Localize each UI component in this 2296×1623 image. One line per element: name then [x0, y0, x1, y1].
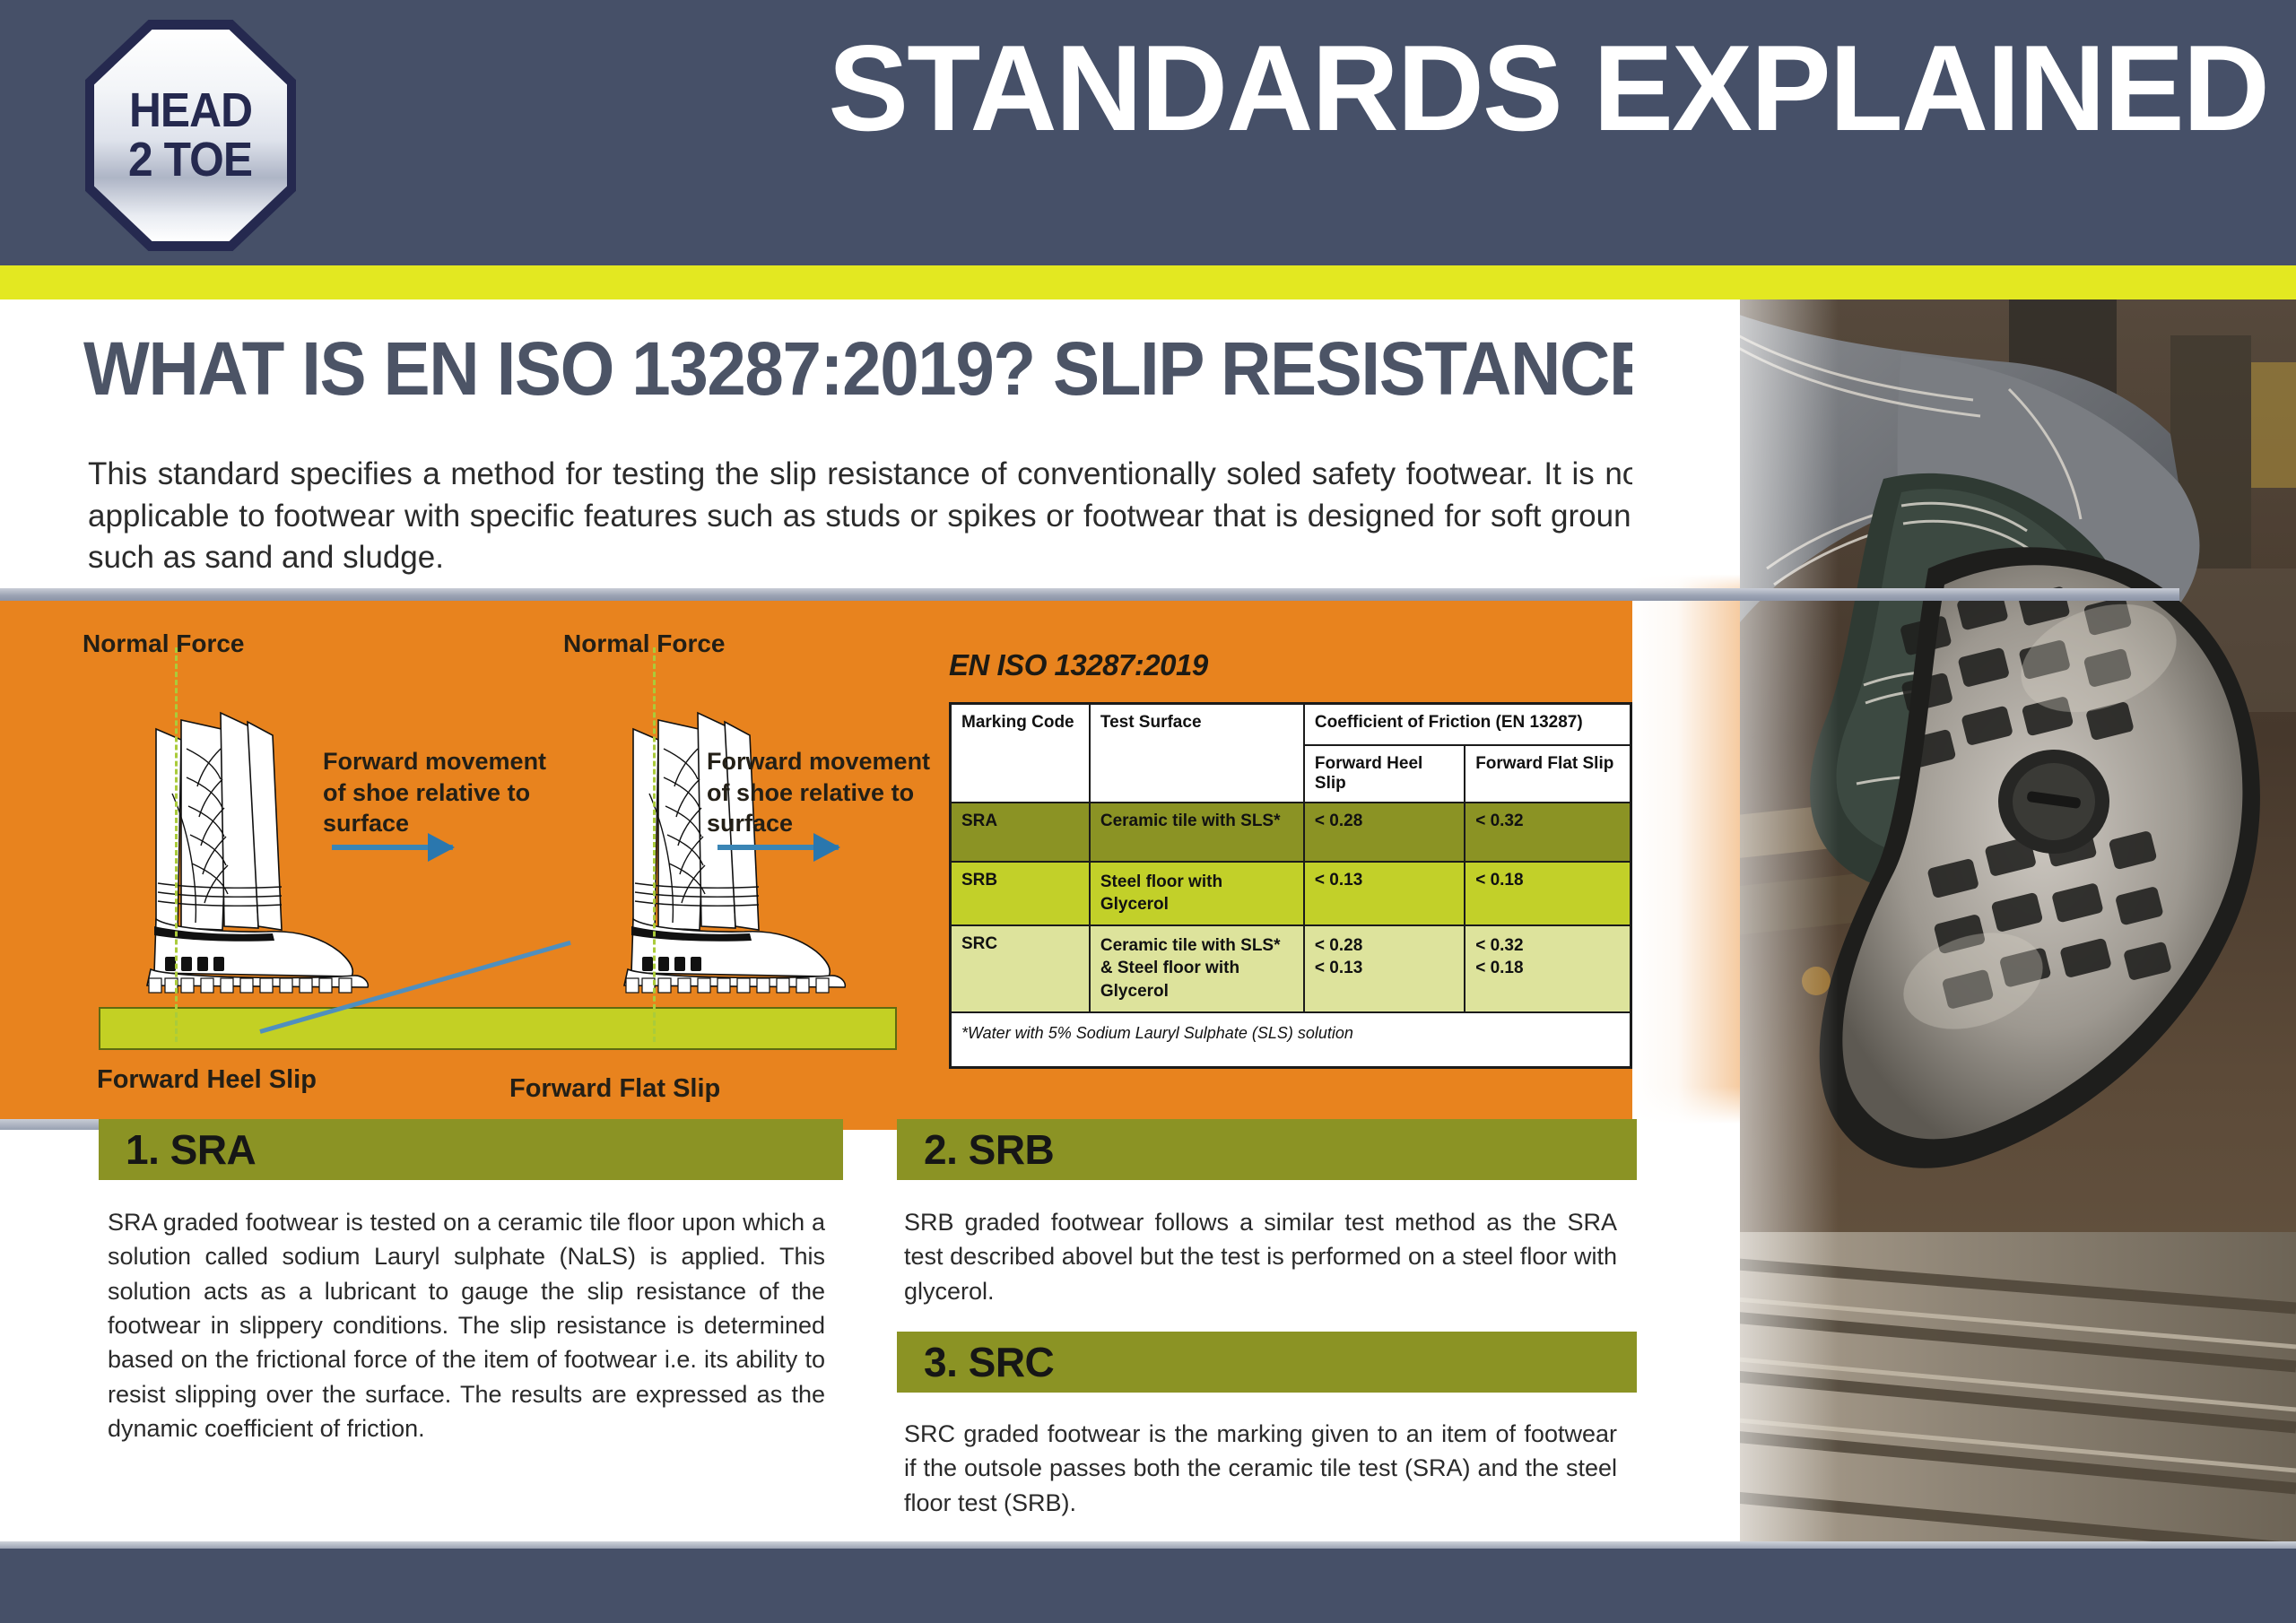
- label-forward-heel-slip: Forward Heel Slip: [97, 1065, 317, 1095]
- th-test-surface: Test Surface: [1090, 704, 1304, 803]
- divider-rule-top: [0, 588, 2179, 601]
- section-heading-sra: 1. SRA: [99, 1119, 843, 1180]
- normal-force-axis-left: [175, 647, 178, 1042]
- page-header: HEAD 2 TOE STANDARDS EXPLAINED: [0, 0, 2296, 265]
- header-title: STANDARDS EXPLAINED: [661, 27, 2268, 149]
- th-forward-heel-slip: Forward Heel Slip: [1304, 745, 1465, 803]
- divider-rule-bottom: [0, 1541, 2296, 1549]
- label-forward-flat-slip: Forward Flat Slip: [509, 1074, 720, 1104]
- cell-heel-src-line2: < 0.13: [1315, 957, 1455, 980]
- cell-flat-srb: < 0.18: [1465, 862, 1631, 925]
- cell-flat-src-line1: < 0.32: [1475, 934, 1621, 958]
- arrow-right-icon-left: [332, 845, 453, 850]
- cell-heel-srb: < 0.13: [1304, 862, 1465, 925]
- cell-heel-src-line1: < 0.28: [1315, 934, 1455, 958]
- page-title: WHAT IS EN ISO 13287:2019? SLIP RESISTAN…: [83, 331, 1655, 406]
- table-footnote: *Water with 5% Sodium Lauryl Sulphate (S…: [951, 1012, 1631, 1068]
- section-heading-src: 3. SRC: [897, 1332, 1637, 1393]
- normal-force-axis-right: [653, 647, 656, 1042]
- label-normal-force-left: Normal Force: [83, 629, 245, 658]
- cell-flat-sra: < 0.32: [1465, 803, 1631, 862]
- cell-code-src: SRC: [951, 925, 1090, 1012]
- section-body-src: SRC graded footwear is the marking given…: [904, 1417, 1617, 1520]
- section-heading-srb: 2. SRB: [897, 1119, 1637, 1180]
- th-marking-code: Marking Code: [951, 704, 1090, 803]
- th-coefficient: Coefficient of Friction (EN 13287): [1304, 704, 1631, 745]
- cell-surface-sra: Ceramic tile with SLS*: [1090, 803, 1304, 862]
- label-normal-force-right: Normal Force: [563, 629, 726, 658]
- cell-heel-src: < 0.28 < 0.13: [1304, 925, 1465, 1012]
- table-header-row-1: Marking Code Test Surface Coefficient of…: [951, 704, 1631, 745]
- table-row: SRA Ceramic tile with SLS* < 0.28 < 0.32: [951, 803, 1631, 862]
- cell-heel-sra: < 0.28: [1304, 803, 1465, 862]
- section-body-sra: SRA graded footwear is tested on a ceram…: [108, 1205, 825, 1445]
- arrow-right-icon-right: [717, 845, 839, 850]
- brand-logo: HEAD 2 TOE: [85, 20, 296, 251]
- table-row: SRB Steel floor with Glycerol < 0.13 < 0…: [951, 862, 1631, 925]
- cell-surface-srb: Steel floor with Glycerol: [1090, 862, 1304, 925]
- friction-coefficient-table: Marking Code Test Surface Coefficient of…: [949, 702, 1632, 1069]
- cell-surface-src: Ceramic tile with SLS* & Steel floor wit…: [1090, 925, 1304, 1012]
- table-footnote-row: *Water with 5% Sodium Lauryl Sulphate (S…: [951, 1012, 1631, 1068]
- cell-code-sra: SRA: [951, 803, 1090, 862]
- intro-paragraph: This standard specifies a method for tes…: [88, 454, 1648, 579]
- label-forward-movement-left: Forward movement of shoe relative to sur…: [323, 746, 565, 839]
- label-forward-movement-right: Forward movement of shoe relative to sur…: [707, 746, 949, 839]
- header-accent-stripe: [0, 265, 2296, 299]
- section-body-srb: SRB graded footwear follows a similar te…: [904, 1205, 1617, 1308]
- th-forward-flat-slip: Forward Flat Slip: [1465, 745, 1631, 803]
- logo-line-1: HEAD: [129, 88, 252, 134]
- cell-flat-src: < 0.32 < 0.18: [1465, 925, 1631, 1012]
- logo-text: HEAD 2 TOE: [85, 20, 296, 251]
- table-title: EN ISO 13287:2019: [949, 648, 1208, 682]
- page-footer: [0, 1549, 2296, 1623]
- table-row: SRC Ceramic tile with SLS* & Steel floor…: [951, 925, 1631, 1012]
- photo-left-fade: [1632, 299, 1839, 1549]
- boot-sole-photo: [1632, 299, 2296, 1549]
- logo-line-2: 2 TOE: [128, 137, 252, 183]
- cell-flat-src-line2: < 0.18: [1475, 957, 1621, 980]
- cell-code-srb: SRB: [951, 862, 1090, 925]
- test-surface-bar: [99, 1007, 897, 1050]
- infographic-page: HEAD 2 TOE STANDARDS EXPLAINED WHAT IS E…: [0, 0, 2296, 1623]
